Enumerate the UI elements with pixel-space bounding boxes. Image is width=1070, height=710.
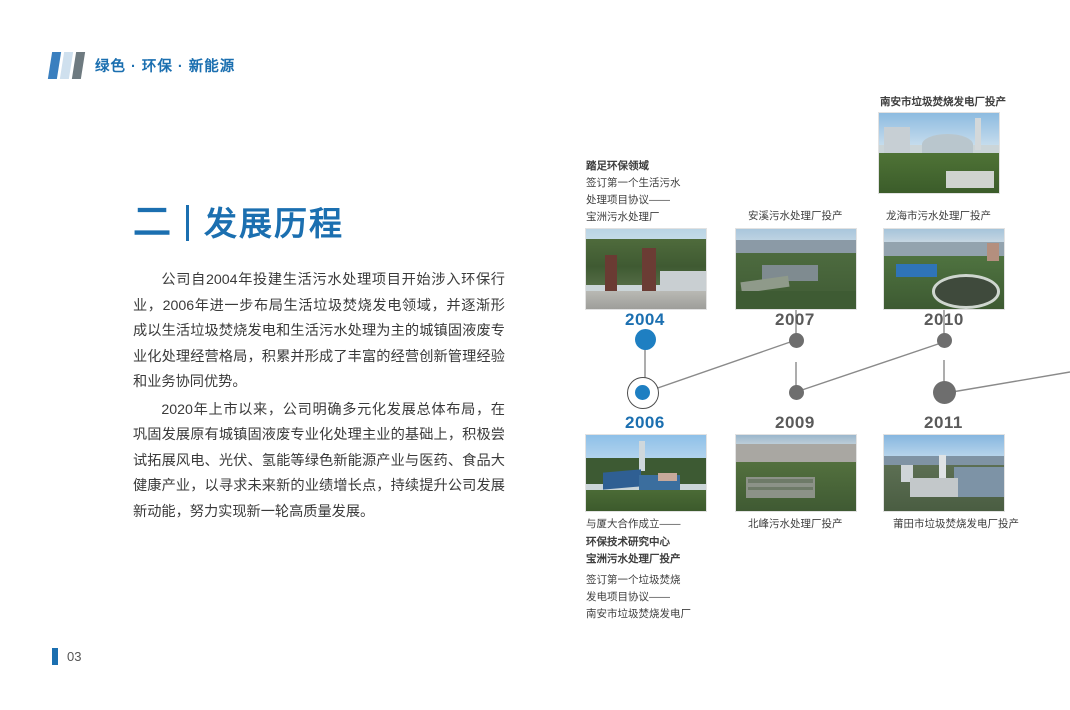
caption-2006-line-5: 签订第一个垃圾焚烧	[586, 572, 681, 590]
timeline-dot-2004[interactable]	[635, 329, 656, 350]
photo-baozhou-wastewater-plant-gate	[585, 228, 707, 310]
caption-nanan-incineration: 南安市垃圾焚烧发电厂投产	[880, 94, 1006, 112]
year-label-2009: 2009	[775, 413, 815, 433]
year-label-2011: 2011	[924, 413, 963, 433]
caption-2006-line-1: 与厦大合作成立——	[586, 516, 681, 534]
body-paragraph-1: 公司自2004年投建生活污水处理项目开始涉入环保行业，2006年进一步布局生活垃…	[133, 268, 505, 396]
section-number: 二	[133, 204, 171, 242]
timeline-dot-2009[interactable]	[789, 385, 804, 400]
year-label-2007: 2007	[775, 310, 815, 330]
caption-2006-line-6: 发电项目协议——	[586, 589, 670, 607]
caption-2006-line-2: 环保技术研究中心	[586, 534, 670, 552]
caption-2007: 安溪污水处理厂投产	[748, 208, 843, 226]
caption-2004-line-1: 踏足环保领域	[586, 158, 649, 176]
page-title: 二 发展历程	[133, 204, 344, 242]
page-root: 绿色 · 环保 · 新能源 二 发展历程 公司自2004年投建生活污水处理项目开…	[0, 0, 1070, 710]
title-divider	[186, 205, 189, 241]
timeline-dot-2011[interactable]	[933, 381, 956, 404]
photo-longhai-wastewater-plant-aerial	[883, 228, 1005, 310]
timeline-dot-2007[interactable]	[789, 333, 804, 348]
year-label-2004: 2004	[625, 310, 665, 330]
page-number: 03	[52, 648, 81, 665]
section-name: 发展历程	[204, 207, 344, 240]
photo-beifeng-wastewater-plant-aerial	[735, 434, 857, 512]
caption-2009: 北峰污水处理厂投产	[748, 516, 843, 534]
timeline-dot-2010[interactable]	[937, 333, 952, 348]
year-label-2010: 2010	[924, 310, 964, 330]
body-copy: 公司自2004年投建生活污水处理项目开始涉入环保行业，2006年进一步布局生活垃…	[133, 268, 505, 527]
three-bars-logo-icon	[50, 52, 83, 79]
caption-2006-line-3: 宝洲污水处理厂投产	[586, 551, 681, 569]
brand-logo: 绿色 · 环保 · 新能源	[50, 52, 235, 79]
photo-waste-incineration-power-plant	[585, 434, 707, 512]
caption-2006-line-7: 南安市垃圾焚烧发电厂	[586, 606, 691, 624]
caption-2004-line-3: 处理项目协议——	[586, 192, 670, 210]
caption-2010: 龙海市污水处理厂投产	[886, 208, 991, 226]
caption-2011: 莆田市垃圾焚烧发电厂投产	[893, 516, 1019, 534]
page-number-bar-icon	[52, 648, 58, 665]
photo-putian-incineration-plant-aerial	[883, 434, 1005, 512]
photo-nanan-incineration-plant	[878, 112, 1000, 194]
page-number-text: 03	[67, 649, 81, 664]
year-label-2006: 2006	[625, 413, 665, 433]
photo-anxi-wastewater-plant-aerial	[735, 228, 857, 310]
timeline-dot-2006	[635, 385, 650, 400]
caption-2004-line-4: 宝洲污水处理厂	[586, 209, 660, 227]
body-paragraph-2: 2020年上市以来，公司明确多元化发展总体布局，在巩固发展原有城镇固液废专业化处…	[133, 398, 505, 526]
logo-tagline: 绿色 · 环保 · 新能源	[95, 55, 235, 76]
caption-2004-line-2: 签订第一个生活污水	[586, 175, 681, 193]
